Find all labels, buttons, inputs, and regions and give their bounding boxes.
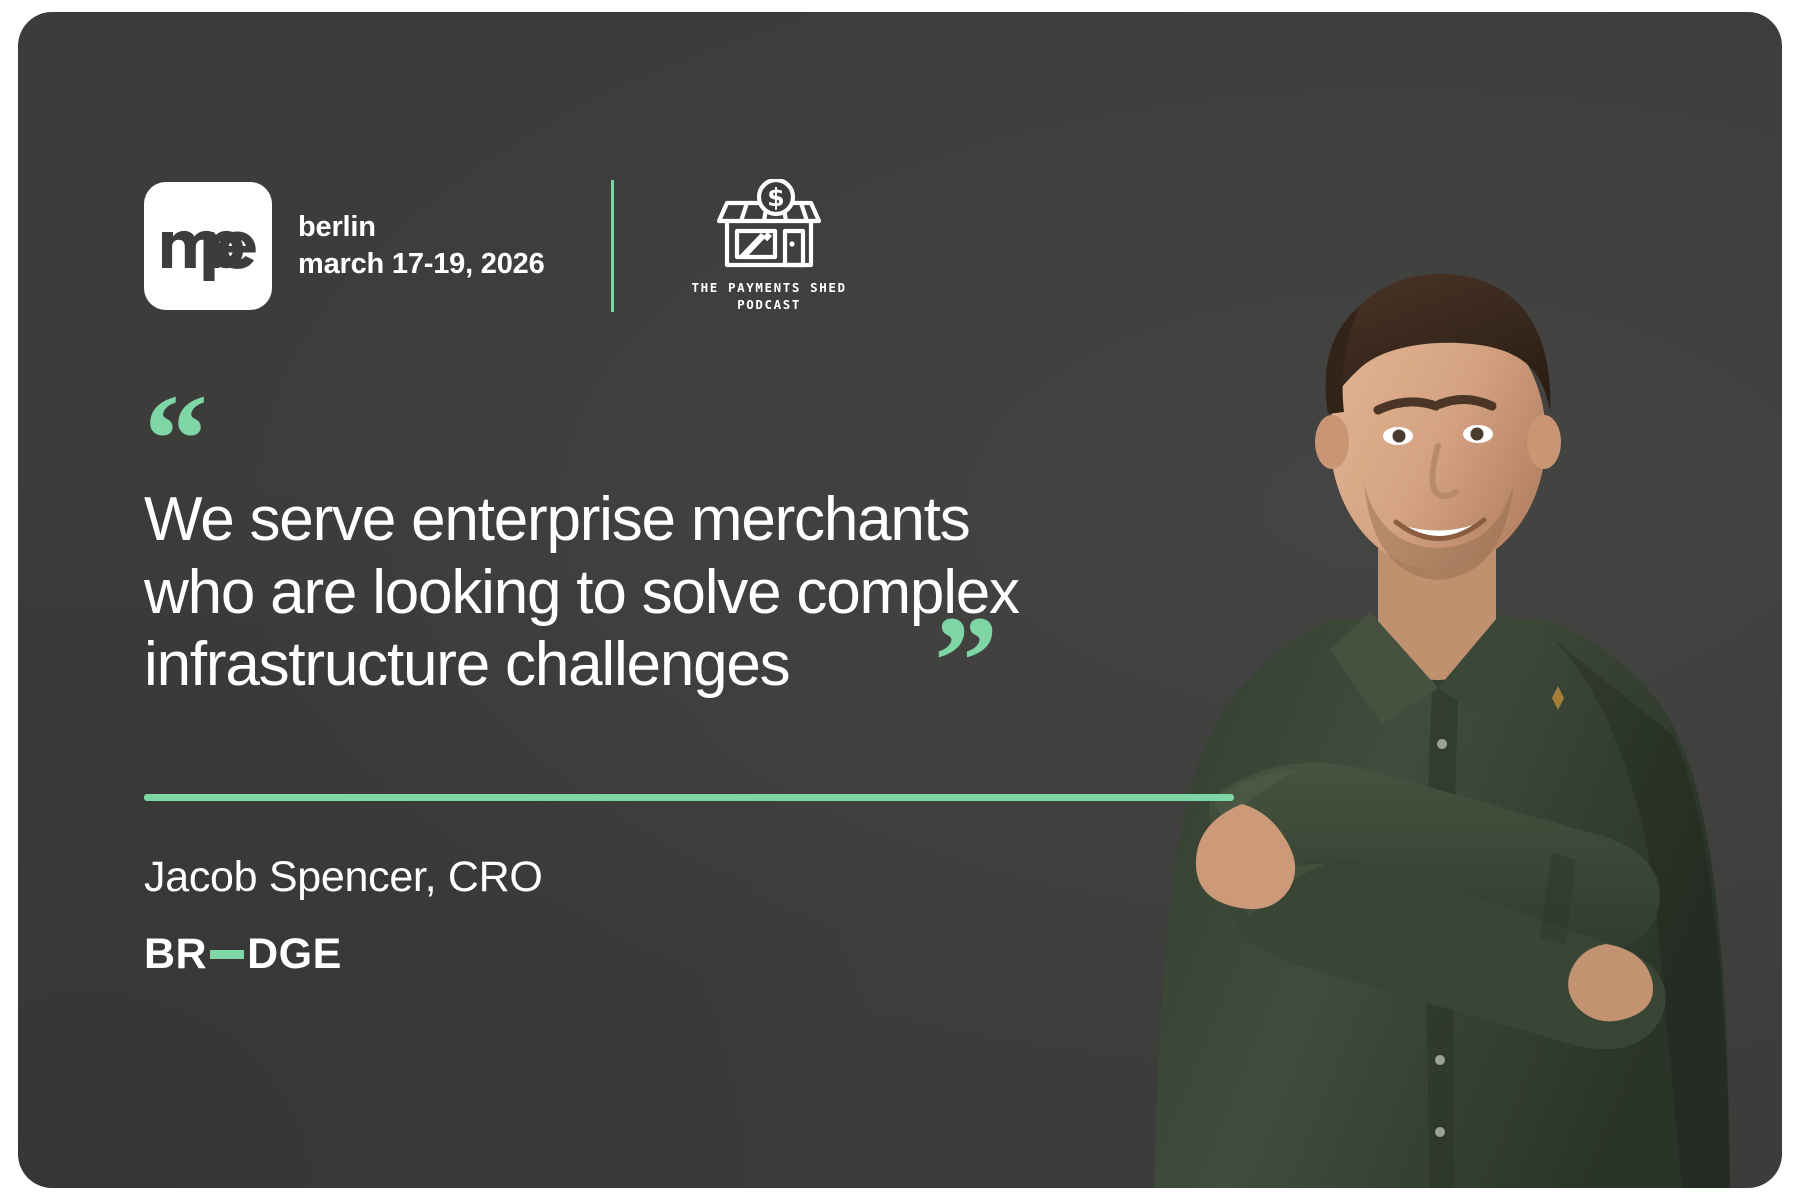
company-logo: BR DGE bbox=[144, 930, 1234, 979]
attribution: Jacob Spencer, CRO BR DGE bbox=[144, 794, 1234, 979]
mpe-event-info: berlin march 17-19, 2026 bbox=[298, 209, 545, 282]
podcast-name: THE PAYMENTS SHED bbox=[692, 280, 847, 297]
brand-header: berlin march 17-19, 2026 bbox=[144, 180, 847, 312]
svg-text:$: $ bbox=[767, 183, 784, 212]
event-city: berlin bbox=[298, 209, 545, 246]
closing-quote-icon: ” bbox=[934, 622, 998, 701]
quote-card: berlin march 17-19, 2026 bbox=[18, 12, 1782, 1188]
mpe-logo-icon bbox=[144, 182, 272, 310]
speaker-name: Jacob Spencer, CRO bbox=[144, 853, 1234, 902]
company-dash-icon bbox=[210, 950, 244, 959]
podcast-kind: PODCAST bbox=[692, 297, 847, 314]
attribution-divider bbox=[144, 794, 1234, 801]
podcast-wordmark: THE PAYMENTS SHED PODCAST bbox=[692, 280, 847, 313]
header-divider bbox=[611, 180, 614, 312]
shop-shed-with-dollar-coin-icon: $ bbox=[713, 179, 825, 271]
company-name-suffix: DGE bbox=[247, 930, 342, 979]
podcast-logo: $ THE PAYMENTS SHED PODCAST bbox=[692, 179, 847, 313]
speaker-portrait bbox=[1082, 188, 1782, 1188]
company-name-prefix: BR bbox=[144, 930, 207, 979]
opening-quote-icon: “ bbox=[144, 400, 1104, 462]
event-dates: march 17-19, 2026 bbox=[298, 246, 545, 283]
quote-block: “ We serve enterprise merchants who are … bbox=[144, 400, 1104, 702]
